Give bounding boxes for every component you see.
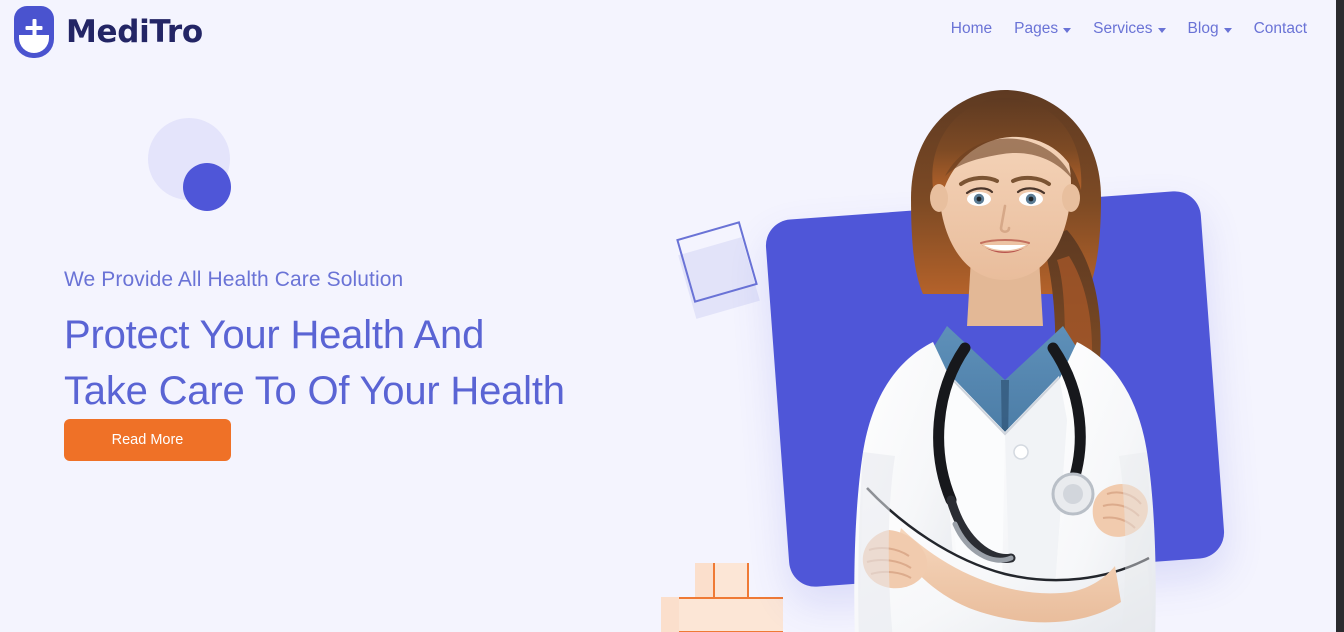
nav-label: Pages (1014, 20, 1058, 38)
chevron-down-icon (1063, 28, 1071, 33)
shield-bowl-shape (19, 35, 49, 53)
doctor-photo (815, 80, 1195, 632)
nav-label: Home (951, 20, 992, 38)
main-navigation: Home Pages Services Blog Contact (940, 20, 1318, 38)
read-more-button[interactable]: Read More (64, 419, 231, 461)
hero-visual (700, 60, 1320, 632)
hero-text-block: We Provide All Health Care Solution Prot… (64, 266, 684, 419)
site-header: MediTro Home Pages Services Blog Contact (0, 0, 1336, 66)
nav-label: Contact (1254, 20, 1307, 38)
vertical-scrollbar[interactable] (1336, 0, 1344, 632)
page-root: MediTro Home Pages Services Blog Contact (0, 0, 1336, 632)
nav-label: Blog (1188, 20, 1219, 38)
chevron-down-icon (1224, 28, 1232, 33)
medical-shield-plus-icon (14, 6, 54, 58)
brand-name: MediTro (66, 14, 203, 50)
page-title: Protect Your Health And Take Care To Of … (64, 307, 684, 419)
nav-label: Services (1093, 20, 1152, 38)
nav-item-services[interactable]: Services (1082, 20, 1176, 38)
chevron-down-icon (1158, 28, 1166, 33)
indigo-circle-decoration (183, 163, 231, 211)
nav-item-contact[interactable]: Contact (1243, 20, 1318, 38)
nav-item-home[interactable]: Home (940, 20, 1003, 38)
nav-item-pages[interactable]: Pages (1003, 20, 1082, 38)
nav-item-blog[interactable]: Blog (1177, 20, 1243, 38)
plus-icon (26, 19, 43, 36)
brand-logo-link[interactable]: MediTro (14, 6, 203, 58)
hero-subtitle: We Provide All Health Care Solution (64, 266, 684, 293)
